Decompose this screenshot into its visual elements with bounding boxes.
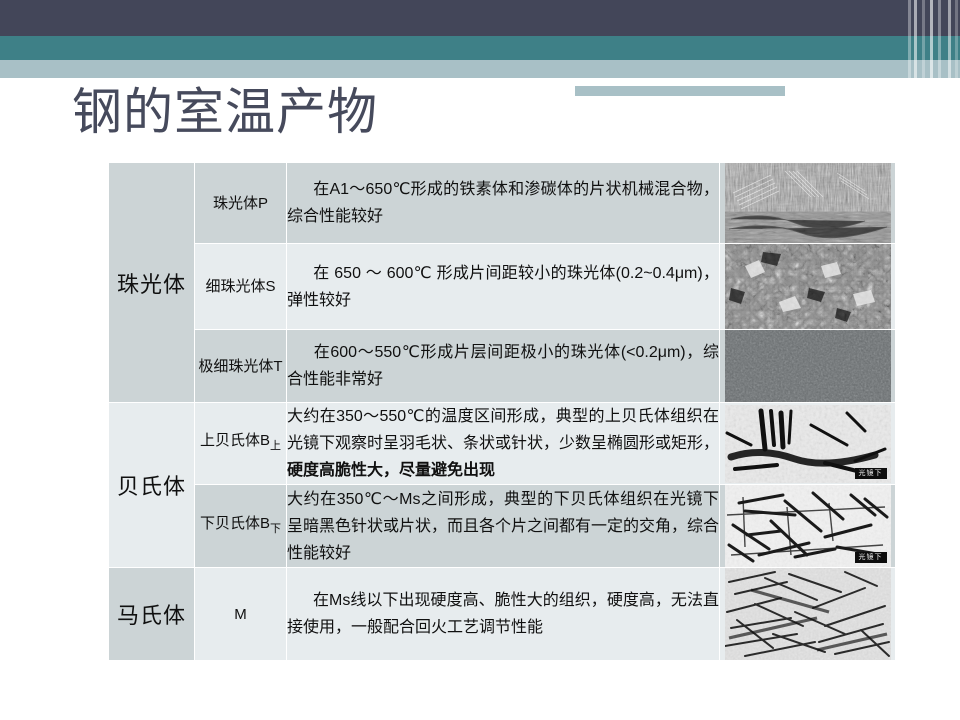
table-row: 下贝氏体B下 大约在350℃～Ms之间形成，典型的下贝氏体组织在光镜下呈暗黑色针… [109, 485, 896, 568]
subtype-cell: 极细珠光体T [195, 330, 287, 403]
subtype-cell: 上贝氏体B上 [195, 403, 287, 485]
description-text: 大约在350℃～Ms之间形成，典型的下贝氏体组织在光镜下呈暗黑色针状或片状，而且… [287, 491, 719, 562]
martensite-micrograph-svg [725, 568, 891, 660]
fine-pearlite-micrograph [725, 244, 891, 329]
micrograph-cell: 光镜下 [720, 403, 896, 485]
table-row: 珠光体 珠光体P 在A1～650℃形成的铁素体和渗碳体的片状机械混合物，综合性能… [109, 163, 896, 244]
header-white-stripe-1 [575, 78, 785, 86]
category-cell-pearlite: 珠光体 [109, 163, 195, 403]
header-vertical-stripe-1 [908, 0, 911, 116]
category-cell-bainite: 贝氏体 [109, 403, 195, 568]
table-row: 贝氏体 上贝氏体B上 大约在350～550℃的温度区间形成，典型的上贝氏体组织在… [109, 403, 896, 485]
description-cell: 大约在350～550℃的温度区间形成，典型的上贝氏体组织在光镜下观察时呈羽毛状、… [287, 403, 720, 485]
martensite-micrograph [725, 568, 891, 660]
header-vertical-stripe-7 [955, 0, 958, 116]
description-text: 大约在350～550℃的温度区间形成，典型的上贝氏体组织在光镜下观察时呈羽毛状、… [287, 408, 719, 452]
upper-bainite-micrograph: 光镜下 [725, 405, 891, 483]
description-cell: 大约在350℃～Ms之间形成，典型的下贝氏体组织在光镜下呈暗黑色针状或片状，而且… [287, 485, 720, 568]
fine-pearlite-micrograph-svg [725, 244, 891, 329]
subtype-cell: 细珠光体S [195, 244, 287, 330]
subtype-cell: 下贝氏体B下 [195, 485, 287, 568]
category-cell-martensite: 马氏体 [109, 568, 195, 661]
table-row: 极细珠光体T 在600～550℃形成片层间距极小的珠光体(<0.2μm)，综合性… [109, 330, 896, 403]
description-emphasis: 硬度高脆性大，尽量避免出现 [287, 462, 495, 479]
header-vertical-stripe-2 [914, 0, 917, 116]
micrograph-cell: 光镜下 [720, 485, 896, 568]
table-row: 马氏体 M 在Ms线以下出现硬度高、脆性大的组织，硬度高，无法直接使用，一般配合… [109, 568, 896, 661]
micrograph-cell [720, 244, 896, 330]
header-teal-band [0, 36, 960, 60]
subtype-cell: M [195, 568, 287, 661]
lower-bainite-micrograph: 光镜下 [725, 485, 891, 567]
header-vertical-stripe-3 [922, 0, 925, 116]
micrograph-label: 光镜下 [855, 552, 887, 563]
troostite-micrograph [725, 330, 891, 402]
description-text: 在 650 ～ 600℃ 形成片间距较小的珠光体(0.2~0.4μm)，弹性较好 [287, 265, 719, 309]
header-dark-band [0, 0, 960, 36]
description-cell: 在Ms线以下出现硬度高、脆性大的组织，硬度高，无法直接使用，一般配合回火工艺调节… [287, 568, 720, 661]
micrograph-cell [720, 163, 896, 244]
header-white-tail [430, 96, 960, 120]
troostite-micrograph-svg [725, 330, 891, 402]
description-text: 在600～550℃形成片层间距极小的珠光体(<0.2μm)，综合性能非常好 [287, 344, 719, 388]
slide-title: 钢的室温产物 [72, 82, 378, 142]
pearlite-micrograph-svg [725, 163, 891, 243]
header-white-stripe-2 [785, 78, 960, 86]
description-cell: 在 650 ～ 600℃ 形成片间距较小的珠光体(0.2~0.4μm)，弹性较好 [287, 244, 720, 330]
micrograph-label: 光镜下 [855, 468, 887, 479]
pearlite-micrograph [725, 163, 891, 243]
description-text: 在A1～650℃形成的铁素体和渗碳体的片状机械混合物，综合性能较好 [287, 181, 719, 225]
steel-room-temperature-products-table: 珠光体 珠光体P 在A1～650℃形成的铁素体和渗碳体的片状机械混合物，综合性能… [108, 162, 896, 661]
subtype-cell: 珠光体P [195, 163, 287, 244]
description-cell: 在A1～650℃形成的铁素体和渗碳体的片状机械混合物，综合性能较好 [287, 163, 720, 244]
micrograph-cell [720, 568, 896, 661]
header-vertical-stripe-4 [930, 0, 933, 116]
table-body: 珠光体 珠光体P 在A1～650℃形成的铁素体和渗碳体的片状机械混合物，综合性能… [109, 163, 896, 661]
micrograph-cell [720, 330, 896, 403]
header-lightblue-right [580, 60, 960, 78]
header-blue-stripe-1 [575, 86, 785, 96]
description-cell: 在600～550℃形成片层间距极小的珠光体(<0.2μm)，综合性能非常好 [287, 330, 720, 403]
table-row: 细珠光体S 在 650 ～ 600℃ 形成片间距较小的珠光体(0.2~0.4μm… [109, 244, 896, 330]
header-vertical-stripe-5 [938, 0, 941, 116]
header-vertical-stripe-6 [948, 0, 951, 116]
description-text: 在Ms线以下出现硬度高、脆性大的组织，硬度高，无法直接使用，一般配合回火工艺调节… [287, 592, 719, 636]
